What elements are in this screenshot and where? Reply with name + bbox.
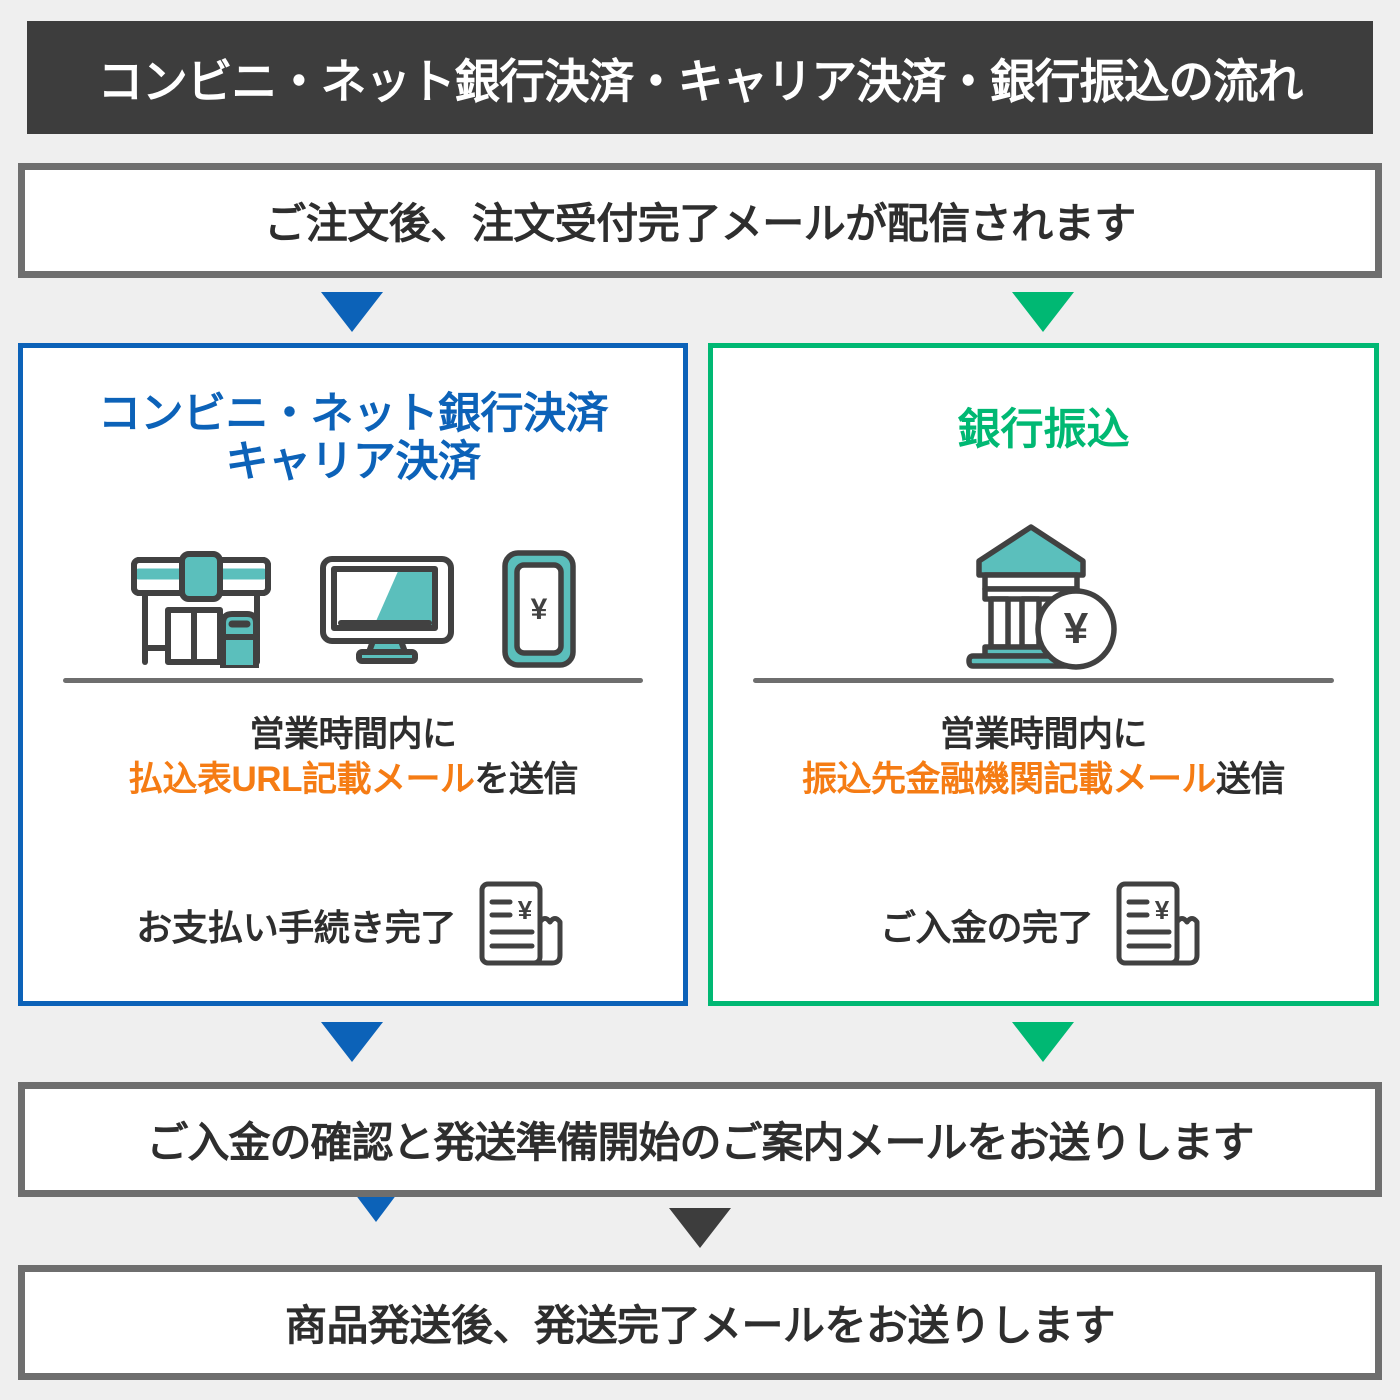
panel-furikomi-icon-row: ¥ xyxy=(713,514,1374,679)
panel-konbini-note: 営業時間内に 払込表URL記載メールを送信 xyxy=(23,713,683,803)
desktop-monitor-icon xyxy=(317,554,457,664)
smartphone-yen-icon: ¥ xyxy=(499,548,579,670)
step-order-confirmation-label: ご注文後、注文受付完了メールが配信されます xyxy=(264,190,1136,251)
panel-konbini-done-row: お支払い手続き完了 ¥ xyxy=(23,875,683,975)
step-shipped: 商品発送後、発送完了メールをお送りします xyxy=(18,1265,1382,1380)
arrow-down-green-to-furikomi-icon xyxy=(1012,292,1074,332)
bank-yen-glyph: ¥ xyxy=(1063,604,1088,653)
panel-konbini: コンビニ・ネット銀行決済 キャリア決済 xyxy=(18,343,688,1006)
panel-konbini-note-line1: 営業時間内に xyxy=(23,713,683,758)
panel-konbini-done-label: お支払い手続き完了 xyxy=(136,899,456,951)
panel-furikomi: 銀行振込 ¥ 営業時間内に 振込先金融 xyxy=(708,343,1379,1006)
step-shipped-label: 商品発送後、発送完了メールをお送りします xyxy=(285,1292,1115,1353)
convenience-store-icon xyxy=(127,550,275,668)
panel-furikomi-divider xyxy=(753,678,1334,683)
panel-furikomi-done-label: ご入金の完了 xyxy=(880,899,1093,951)
step-order-confirmation: ご注文後、注文受付完了メールが配信されます xyxy=(18,163,1382,278)
receipt-yen-glyph: ¥ xyxy=(1155,895,1170,925)
page-title: コンビニ・ネット銀行決済・キャリア決済・銀行振込の流れ xyxy=(98,43,1303,112)
flow-diagram: コンビニ・ネット銀行決済・キャリア決済・銀行振込の流れ ご注文後、注文受付完了メ… xyxy=(0,0,1400,1400)
panel-furikomi-note: 営業時間内に 振込先金融機関記載メール送信 xyxy=(713,713,1374,803)
panel-furikomi-note-line1: 営業時間内に xyxy=(713,713,1374,758)
panel-furikomi-done-row: ご入金の完了 ¥ xyxy=(713,875,1374,975)
panel-konbini-note-suffix: を送信 xyxy=(474,760,578,799)
arrow-down-blue-to-confirmation xyxy=(321,1022,383,1062)
receipt-yen-glyph: ¥ xyxy=(518,895,533,925)
page-title-banner: コンビニ・ネット銀行決済・キャリア決済・銀行振込の流れ xyxy=(27,21,1373,134)
bank-yen-icon: ¥ xyxy=(959,519,1129,674)
panel-furikomi-note-suffix: 送信 xyxy=(1216,760,1285,799)
panel-furikomi-note-line2: 振込先金融機関記載メール送信 xyxy=(713,758,1374,803)
panel-konbini-divider xyxy=(63,678,643,683)
arrow-down-dark-to-shipped xyxy=(669,1208,731,1248)
panel-konbini-icon-row: ¥ xyxy=(23,544,683,674)
panel-furikomi-note-highlight: 振込先金融機関記載メール xyxy=(802,760,1216,799)
step-payment-confirmed-label: ご入金の確認と発送準備開始のご案内メールをお送りします xyxy=(146,1109,1253,1170)
panel-konbini-note-highlight: 払込表URL記載メール xyxy=(128,760,474,799)
panel-konbini-note-line2: 払込表URL記載メールを送信 xyxy=(23,758,683,803)
panel-furikomi-title: 銀行振込 xyxy=(713,406,1374,454)
step-payment-confirmed: ご入金の確認と発送準備開始のご案内メールをお送りします xyxy=(18,1082,1382,1197)
receipt-yen-icon: ¥ xyxy=(470,878,570,972)
smartphone-yen-glyph: ¥ xyxy=(531,593,548,626)
panel-konbini-title: コンビニ・ネット銀行決済 キャリア決済 xyxy=(23,390,683,486)
arrow-down-blue-to-konbini-icon xyxy=(321,292,383,332)
arrow-down-green-to-confirmation xyxy=(1012,1022,1074,1062)
receipt-yen-icon: ¥ xyxy=(1107,878,1207,972)
